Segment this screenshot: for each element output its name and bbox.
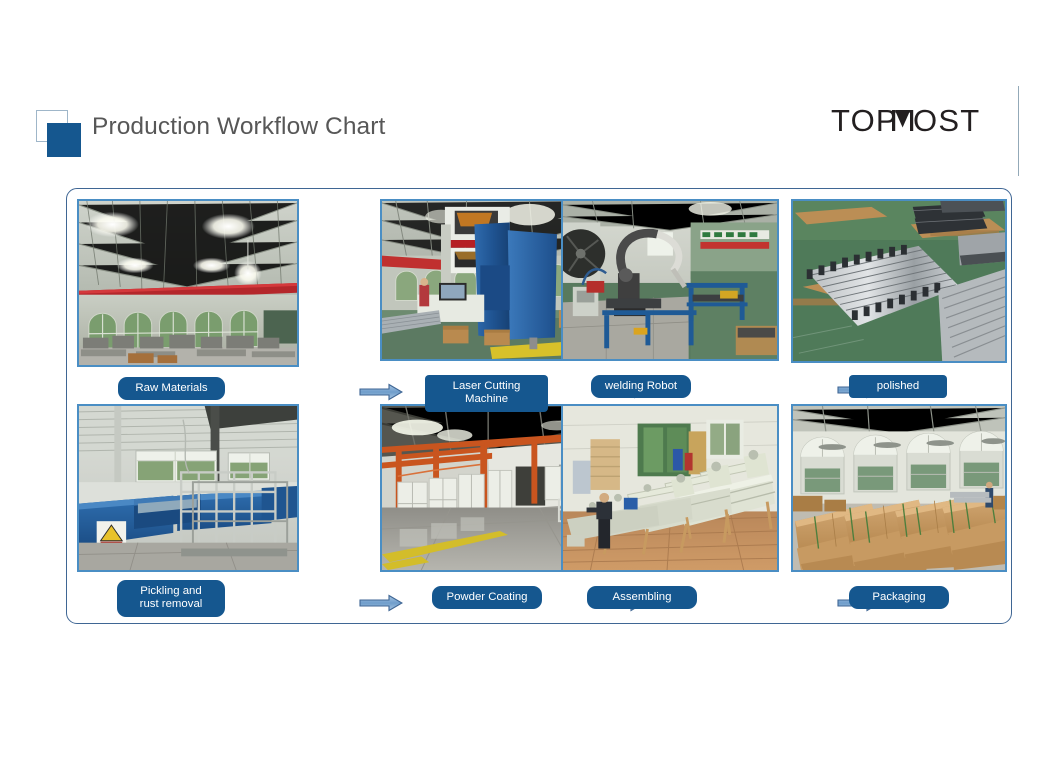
- step-label-assembling[interactable]: Assembling: [587, 586, 697, 609]
- workflow-step-raw-materials: Raw Materials: [67, 195, 305, 400]
- assembling-workstations-photo: [561, 404, 779, 572]
- step-label-welding-robot[interactable]: welding Robot: [591, 375, 691, 398]
- triangle-m-glyph: [892, 110, 913, 131]
- workflow-step-laser-cutting-machine: Laser Cutting Machine: [307, 195, 553, 400]
- polished-metal-parts-stacks-photo: [791, 199, 1007, 363]
- packaging-carton-stacks-photo: [791, 404, 1007, 572]
- step-label-packaging[interactable]: Packaging: [849, 586, 949, 609]
- right-block-arrow-icon: [359, 383, 403, 401]
- topmost-brand-logo: TOP OST: [831, 102, 1013, 140]
- workflow-step-powder-coating: Powder Coating: [307, 400, 553, 605]
- pickling-rust-removal-tanks-photo: [77, 404, 299, 572]
- page-header: Production Workflow Chart TOP OST: [0, 0, 1060, 178]
- workflow-step-pickling-rust-removal: Pickling and rust removal: [67, 400, 305, 605]
- page-title: Production Workflow Chart: [92, 113, 385, 141]
- workflow-step-welding-robot: welding Robot: [555, 195, 787, 400]
- workflow-step-packaging: Packaging: [789, 400, 1011, 605]
- step-label-raw-materials[interactable]: Raw Materials: [118, 377, 225, 400]
- workflow-step-assembling: Assembling: [555, 400, 787, 605]
- step-label-laser-cutting-machine[interactable]: Laser Cutting Machine: [425, 375, 548, 412]
- step-label-pickling-rust-removal[interactable]: Pickling and rust removal: [117, 580, 225, 617]
- logo-filled-square: [47, 123, 81, 157]
- workflow-row-1: Raw Materials: [67, 195, 1011, 400]
- overlapping-squares-logo: [36, 110, 88, 158]
- workflow-step-polished: polished: [789, 195, 1011, 400]
- step-label-powder-coating[interactable]: Powder Coating: [432, 586, 542, 609]
- right-block-arrow-icon: [359, 594, 403, 612]
- welding-robot-cell-photo: [561, 199, 779, 361]
- step-label-polished[interactable]: polished: [849, 375, 947, 398]
- brand-text-top: TOP: [831, 103, 898, 138]
- workflow-frame: Raw Materials: [66, 188, 1012, 624]
- brand-text-ost: OST: [913, 103, 980, 138]
- factory-workshop-raw-materials-photo: [77, 199, 299, 367]
- header-divider: [1018, 86, 1019, 176]
- workflow-row-2: Pickling and rust removal: [67, 400, 1011, 605]
